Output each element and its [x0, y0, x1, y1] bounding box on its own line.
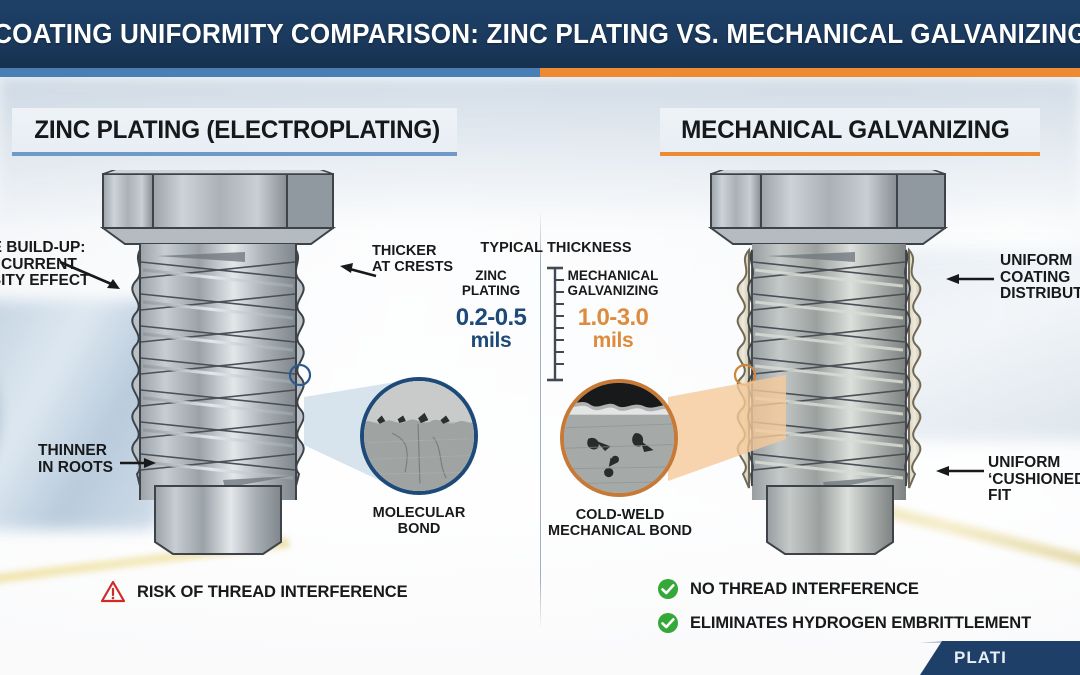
header-accent-strip — [0, 68, 1080, 77]
thickness-mechanical-label: MECHANICAL GALVANIZING — [564, 268, 662, 298]
cold-weld-bond-micrograph — [560, 379, 678, 497]
callout-line: ‘CUSHIONED” — [988, 472, 1080, 489]
micrograph-right-image — [564, 383, 674, 493]
page-title: COATING UNIFORMITY COMPARISON: ZINC PLAT… — [0, 20, 1080, 48]
thickness-mechanical-label-line2: GALVANIZING — [568, 283, 659, 298]
callout-line: THINNER — [38, 443, 113, 460]
magnifier-cone-right — [662, 369, 788, 499]
risk-bullet-row: RISK OF THREAD INTERFERENCE — [100, 580, 407, 604]
risk-bullet-text: RISK OF THREAD INTERFERENCE — [137, 583, 407, 602]
vertical-ruler-icon — [544, 264, 566, 384]
right-panel-heading-underline — [660, 152, 1040, 156]
molecular-bond-micrograph — [360, 377, 478, 495]
warning-triangle-icon — [100, 580, 126, 604]
zinc-plated-bolt-illustration — [95, 170, 345, 560]
callout-uniform-cushioned-fit: UNIFORM ‘CUSHIONED” FIT — [988, 455, 1080, 505]
thickness-zinc-label-line2: PLATING — [462, 283, 520, 298]
molecular-bond-label-line2: BOND — [398, 521, 441, 537]
callout-line: COATING — [1000, 270, 1080, 287]
thickness-mechanical-unit: mils — [564, 330, 662, 352]
thickness-zinc-column: ZINC PLATING 0.2-0.5 mils — [442, 268, 540, 352]
callout-line: EDGE BUILD-UP: — [0, 240, 89, 257]
accent-bar-blue — [0, 68, 540, 77]
benefit-bullet-text-1: NO THREAD INTERFERENCE — [690, 580, 919, 599]
accent-bar-orange — [540, 68, 1080, 77]
typical-thickness-chart: TYPICAL THICKNESS ZINC PLATING 0.2-0.5 m… — [440, 240, 672, 400]
thickness-mechanical-column: MECHANICAL GALVANIZING 1.0-3.0 mils — [564, 268, 662, 352]
benefit-bullet-text-2: ELIMINATES HYDROGEN EMBRITTLEMENT — [690, 614, 1031, 633]
mechanically-galvanized-bolt-illustration — [705, 170, 960, 560]
arrow-icon-edge-build-up — [58, 258, 130, 294]
callout-line: UNIFORM — [988, 455, 1080, 472]
thickness-zinc-value: 0.2-0.5 — [442, 305, 540, 330]
brand-tag-label: PLATI — [954, 648, 1007, 668]
callout-line: UNIFORM — [1000, 253, 1080, 270]
arrow-icon-uniform-coating — [940, 268, 996, 290]
benefit-bullet-row-1: NO THREAD INTERFERENCE — [657, 578, 919, 600]
callout-line: DISTRIBUTION — [1000, 286, 1080, 303]
cold-weld-bond-label: COLD-WELD MECHANICAL BOND — [520, 507, 720, 539]
thickness-mechanical-label-line1: MECHANICAL — [568, 268, 659, 283]
check-circle-icon — [657, 612, 679, 634]
callout-thinner-in-roots: THINNER IN ROOTS — [38, 443, 113, 476]
left-panel-heading-underline — [12, 152, 457, 156]
brand-tag: PLATI — [920, 641, 1080, 675]
cold-weld-bond-label-line2: MECHANICAL BOND — [548, 523, 692, 539]
infographic-root: COATING UNIFORMITY COMPARISON: ZINC PLAT… — [0, 0, 1080, 675]
left-panel-heading-text: ZINC PLATING (ELECTROPLATING) — [34, 116, 440, 145]
arrow-icon-cushioned-fit — [930, 460, 986, 482]
thickness-zinc-label-line1: ZINC — [475, 268, 507, 283]
right-panel-heading-text: MECHANICAL GALVANIZING — [681, 116, 1009, 145]
arrow-icon-thinner-in-roots — [118, 452, 162, 474]
check-circle-icon — [657, 578, 679, 600]
molecular-bond-label: MOLECULAR BOND — [348, 505, 490, 537]
left-panel-heading: ZINC PLATING (ELECTROPLATING) — [12, 108, 457, 152]
typical-thickness-title: TYPICAL THICKNESS — [440, 240, 672, 256]
benefit-bullet-row-2: ELIMINATES HYDROGEN EMBRITTLEMENT — [657, 612, 1031, 634]
callout-line: FIT — [988, 488, 1080, 505]
callout-uniform-coating-distribution: UNIFORM COATING DISTRIBUTION — [1000, 253, 1080, 303]
thickness-zinc-label: ZINC PLATING — [442, 268, 540, 298]
molecular-bond-label-line1: MOLECULAR — [373, 505, 466, 521]
micrograph-left-image — [364, 381, 474, 491]
arrow-icon-thicker-at-crests — [332, 256, 380, 284]
right-panel-heading: MECHANICAL GALVANIZING — [660, 108, 1040, 152]
cold-weld-bond-label-line1: COLD-WELD — [576, 507, 665, 523]
thickness-mechanical-value: 1.0-3.0 — [564, 305, 662, 330]
header-bar: COATING UNIFORMITY COMPARISON: ZINC PLAT… — [0, 0, 1080, 68]
callout-line: IN ROOTS — [38, 460, 113, 477]
thickness-zinc-unit: mils — [442, 330, 540, 352]
